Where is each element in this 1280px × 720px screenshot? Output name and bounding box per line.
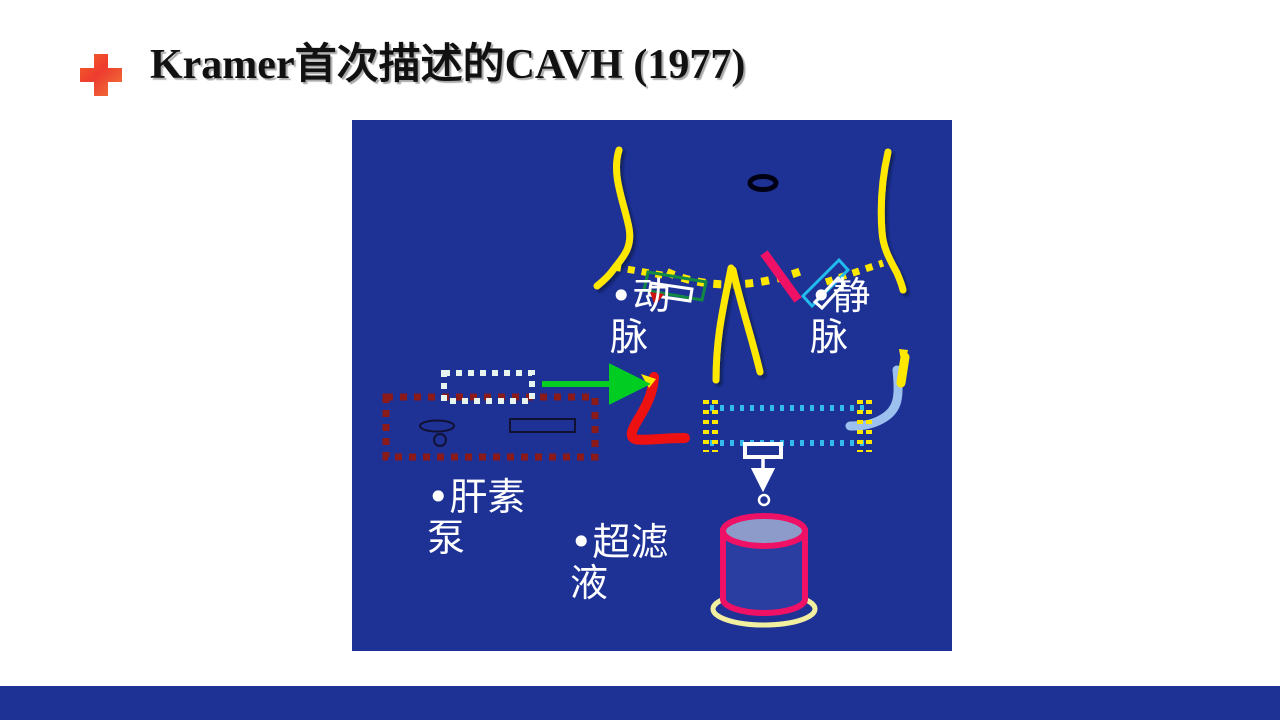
ultrafiltrate-outlet — [745, 444, 781, 457]
label-vein: •静脉 — [810, 276, 892, 358]
label-artery: •动脉 — [610, 276, 692, 358]
heparin-pump-box[interactable] — [386, 397, 595, 457]
slide-header: Kramer首次描述的CAVH (1977) — [0, 0, 1280, 115]
label-ultrafiltrate: •超滤液 — [570, 522, 695, 604]
venous-blood-line-blue — [850, 349, 908, 426]
vein-vessel-right — [881, 152, 903, 290]
heparin-syringe — [510, 419, 575, 432]
ultrafiltrate-drop-upper — [759, 495, 769, 505]
venous-yellow-stub — [901, 357, 905, 383]
hemofilter[interactable] — [706, 400, 869, 452]
navel-icon — [750, 177, 776, 190]
heparin-dial — [420, 421, 454, 432]
red-cross-icon — [78, 52, 124, 98]
footer-bar — [0, 686, 1280, 720]
label-heparin-pump: •肝素泵 — [427, 477, 552, 559]
page-title: Kramer首次描述的CAVH (1977) — [150, 30, 745, 91]
collection-cylinder — [723, 516, 805, 613]
femoral-vessels-center — [716, 268, 760, 380]
cavh-circuit-diagram: •动脉 •静脉 •肝素泵 •超滤液 — [352, 120, 952, 651]
heparin-knob — [434, 434, 446, 446]
artery-vessel-left — [597, 150, 630, 286]
